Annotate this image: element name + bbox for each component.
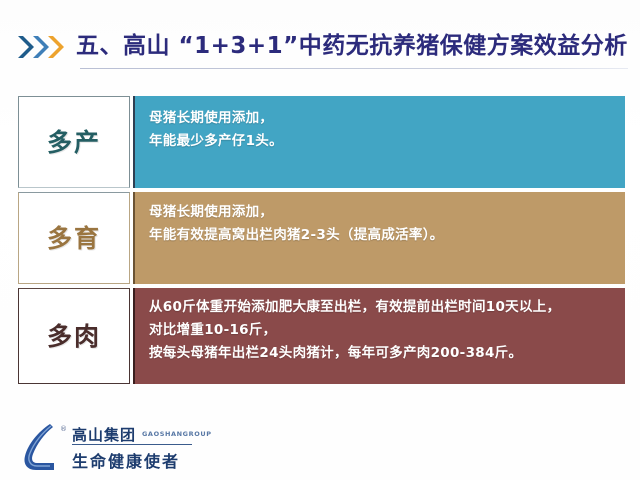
gaoshan-logo-mark-icon bbox=[20, 422, 64, 472]
logo-company-name-cn: 高山集团 bbox=[72, 424, 136, 445]
title-divider bbox=[80, 68, 628, 69]
benefit-row: 多肉 从60斤体重开始添加肥大康至出栏，有效提前出栏时间10天以上， 对比增重1… bbox=[0, 288, 640, 388]
detail-line: 从60斤体重开始添加肥大康至出栏，有效提前出栏时间10天以上， bbox=[149, 296, 625, 319]
logo-divider bbox=[72, 444, 192, 445]
chevron-arrows-group bbox=[16, 34, 74, 60]
detail-line: 母猪长期使用添加， bbox=[149, 201, 625, 224]
company-logo: ® 高山集团 GAOSHANGROUP 生命健康使者 bbox=[20, 418, 210, 474]
benefit-label-cell: 多育 bbox=[18, 192, 130, 284]
registered-trademark-icon: ® bbox=[60, 425, 67, 433]
benefit-row: 多育 母猪长期使用添加， 年能有效提高窝出栏肉猪2-3头（提高成活率）。 bbox=[0, 192, 640, 288]
detail-line: 年能最少多产仔1头。 bbox=[149, 130, 625, 153]
logo-company-name-en: GAOSHANGROUP bbox=[142, 430, 212, 438]
benefit-label: 多育 bbox=[47, 226, 101, 251]
benefit-row: 多产 母猪长期使用添加， 年能最少多产仔1头。 bbox=[0, 96, 640, 192]
detail-line: 按每头母猪年出栏24头肉猪计，每年可多产肉200-384斤。 bbox=[149, 342, 625, 365]
slide-header: 五、高山 “1+3+1”中药无抗养猪保健方案效益分析 bbox=[0, 22, 640, 78]
benefit-label-cell: 多产 bbox=[18, 96, 130, 188]
benefit-label: 多肉 bbox=[47, 324, 101, 349]
benefit-label-cell: 多肉 bbox=[18, 288, 130, 384]
benefit-detail-panel: 母猪长期使用添加， 年能有效提高窝出栏肉猪2-3头（提高成活率）。 bbox=[133, 192, 625, 284]
slide-footer: ® 高山集团 GAOSHANGROUP 生命健康使者 bbox=[0, 412, 640, 480]
benefit-detail-panel: 从60斤体重开始添加肥大康至出栏，有效提前出栏时间10天以上， 对比增重10-1… bbox=[133, 288, 625, 384]
chevron-right-icon-3 bbox=[46, 34, 64, 60]
benefit-detail-panel: 母猪长期使用添加， 年能最少多产仔1头。 bbox=[133, 96, 625, 188]
benefit-rows: 多产 母猪长期使用添加， 年能最少多产仔1头。 多育 母猪长期使用添加， 年能有… bbox=[0, 96, 640, 388]
benefit-label: 多产 bbox=[47, 130, 101, 155]
logo-slogan: 生命健康使者 bbox=[72, 448, 180, 472]
detail-line: 年能有效提高窝出栏肉猪2-3头（提高成活率）。 bbox=[149, 224, 625, 247]
slide-canvas: 五、高山 “1+3+1”中药无抗养猪保健方案效益分析 多产 母猪长期使用添加， … bbox=[0, 0, 640, 480]
detail-line: 对比增重10-16斤， bbox=[149, 319, 625, 342]
page-title: 五、高山 “1+3+1”中药无抗养猪保健方案效益分析 bbox=[76, 26, 628, 60]
detail-line: 母猪长期使用添加， bbox=[149, 107, 625, 130]
